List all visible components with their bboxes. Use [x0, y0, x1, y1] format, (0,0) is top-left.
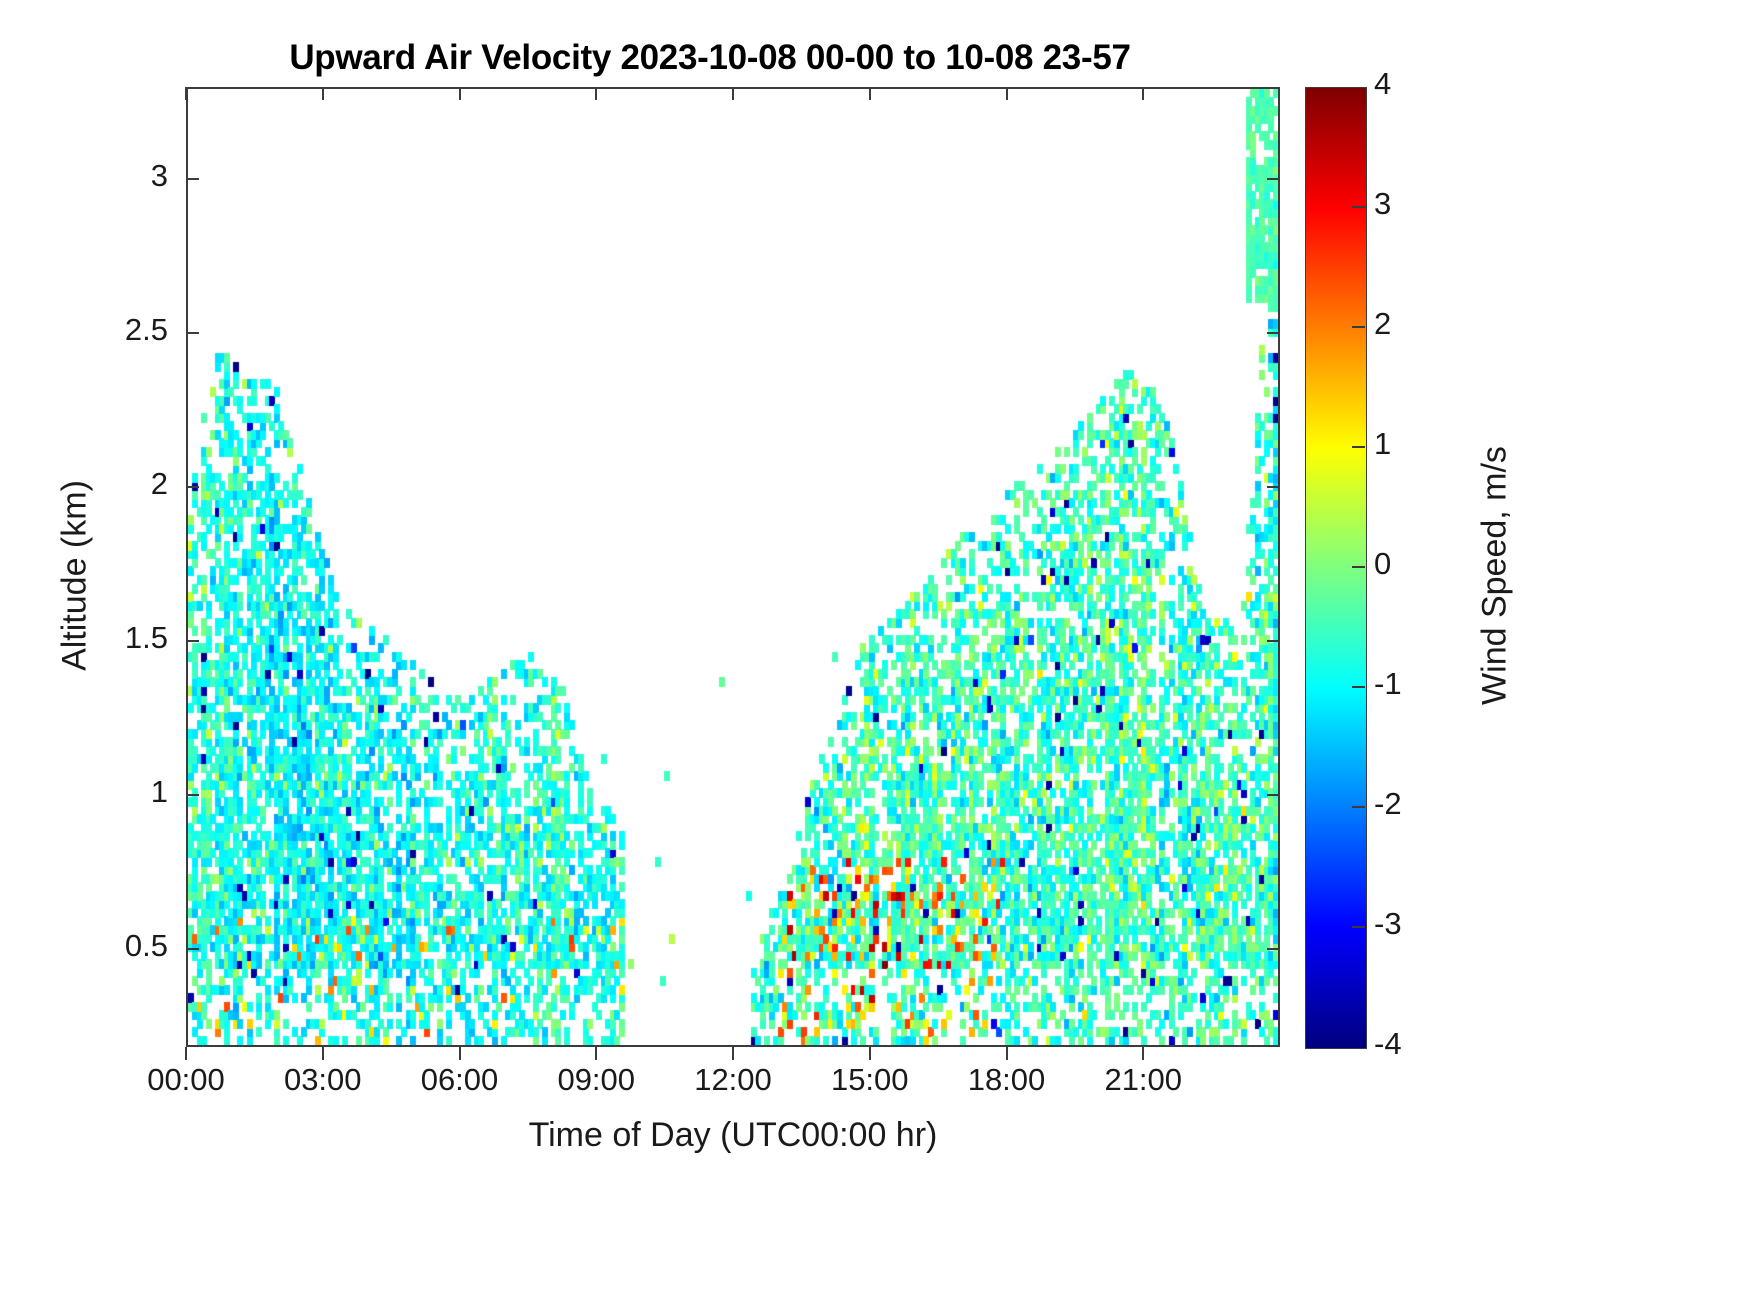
x-axis-label: Time of Day (UTC00:00 hr) [186, 1116, 1280, 1155]
colorbar-tick-label: 3 [1374, 186, 1391, 222]
y-tick-mark [186, 948, 199, 950]
x-tick-mark [732, 87, 734, 100]
x-tick-label: 21:00 [1048, 1062, 1238, 1098]
x-tick-mark [1142, 1047, 1144, 1060]
x-tick-mark [185, 1047, 187, 1060]
colorbar-tick-mark [1352, 446, 1365, 448]
colorbar-tick-label: 4 [1374, 66, 1391, 102]
y-tick-mark [1267, 794, 1280, 796]
x-tick-mark [732, 1047, 734, 1060]
colorbar-tick-label: 2 [1374, 306, 1391, 342]
y-tick-mark [186, 486, 199, 488]
colorbar-tick-mark [1352, 926, 1365, 928]
y-tick-mark [186, 332, 199, 334]
y-tick-mark [186, 178, 199, 180]
x-tick-mark [869, 1047, 871, 1060]
colorbar-tick-label: -4 [1374, 1026, 1402, 1062]
y-tick-mark [1267, 332, 1280, 334]
page-title: Upward Air Velocity 2023-10-08 00-00 to … [0, 38, 1420, 78]
y-axis-label: Altitude (km) [56, 296, 95, 856]
colorbar-gradient [1305, 87, 1367, 1049]
x-tick-mark [869, 87, 871, 100]
x-tick-mark [185, 87, 187, 100]
x-tick-mark [1006, 87, 1008, 100]
y-tick-mark [1267, 948, 1280, 950]
colorbar-tick-mark [1352, 326, 1365, 328]
colorbar-tick-label: 1 [1374, 426, 1391, 462]
heatmap-image [188, 89, 1278, 1045]
colorbar-tick-label: -1 [1374, 666, 1402, 702]
plot-axes [186, 87, 1280, 1047]
colorbar-tick-mark [1352, 686, 1365, 688]
x-tick-mark [595, 1047, 597, 1060]
colorbar-tick-mark [1352, 206, 1365, 208]
colorbar-tick-label: -3 [1374, 906, 1402, 942]
figure-canvas: Upward Air Velocity 2023-10-08 00-00 to … [0, 0, 1750, 1313]
y-tick-label: 0.5 [48, 928, 168, 964]
x-tick-mark [1142, 87, 1144, 100]
x-tick-mark [322, 87, 324, 100]
x-tick-mark [1006, 1047, 1008, 1060]
y-tick-mark [1267, 178, 1280, 180]
y-tick-mark [186, 640, 199, 642]
y-tick-mark [186, 794, 199, 796]
colorbar-tick-mark [1352, 806, 1365, 808]
x-tick-mark [459, 1047, 461, 1060]
y-tick-mark [1267, 640, 1280, 642]
colorbar-tick-label: 0 [1374, 546, 1391, 582]
y-tick-mark [1267, 486, 1280, 488]
y-tick-label: 3 [48, 158, 168, 194]
colorbar-tick-label: -2 [1374, 786, 1402, 822]
colorbar-tick-mark [1352, 566, 1365, 568]
x-tick-mark [595, 87, 597, 100]
x-tick-mark [322, 1047, 324, 1060]
colorbar-label: Wind Speed, m/s [1476, 296, 1515, 856]
x-tick-mark [459, 87, 461, 100]
